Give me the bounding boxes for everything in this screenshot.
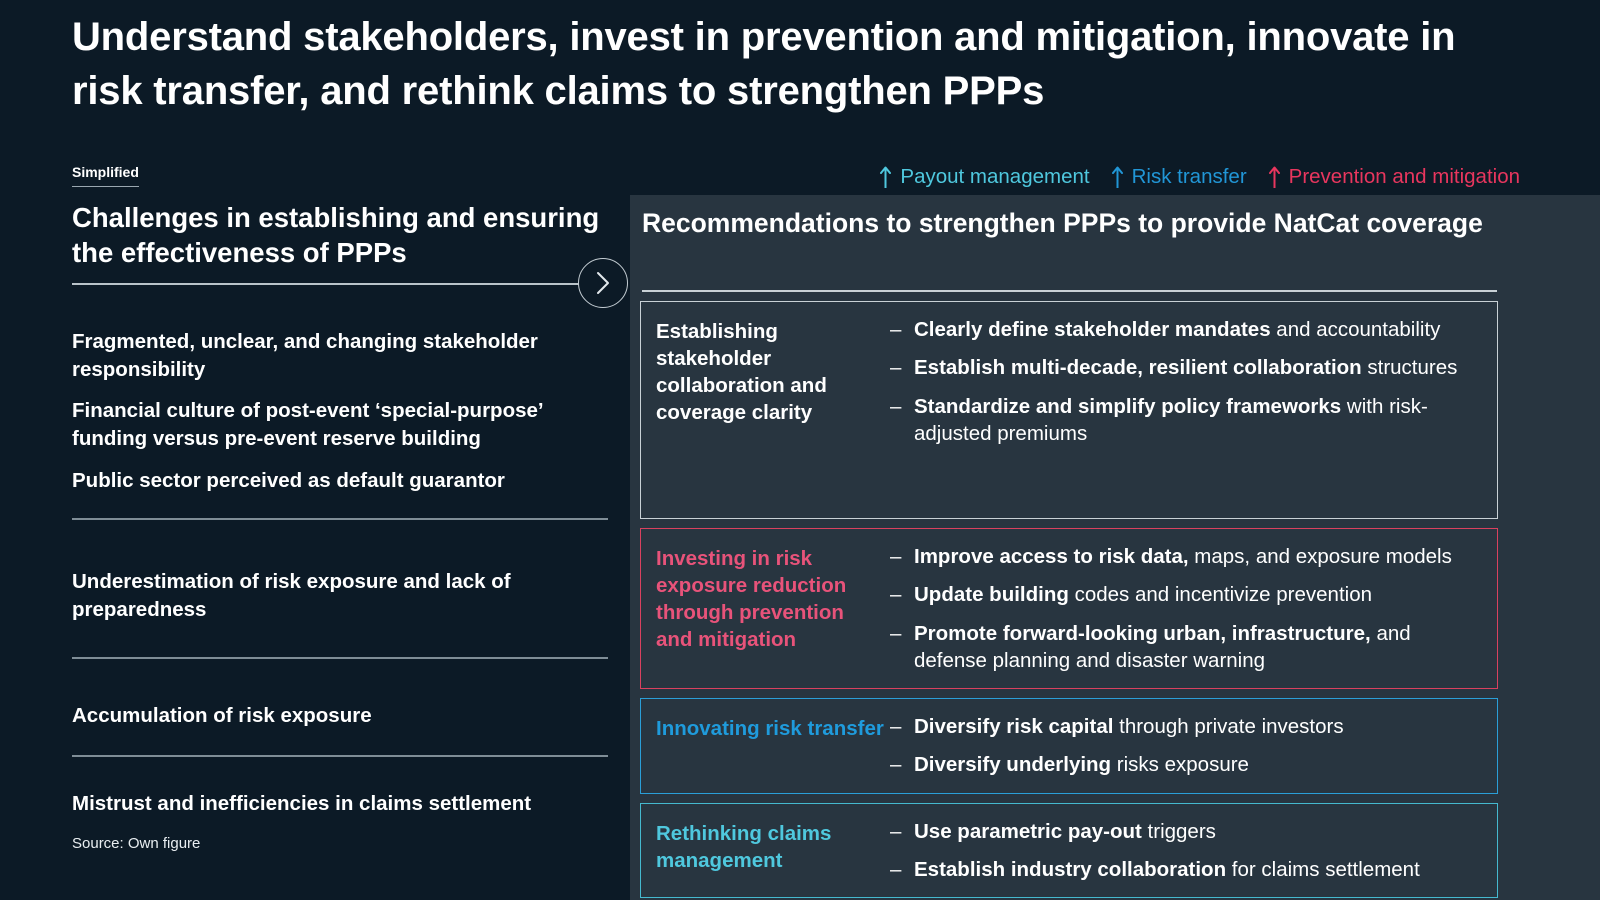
right-heading-rule [642,290,1497,292]
chevron-right-icon[interactable] [578,258,628,308]
legend-item-label: Prevention and mitigation [1289,167,1520,188]
up-arrow-icon [1112,166,1123,188]
recommendation-card: Investing in risk exposure reduction thr… [640,528,1498,689]
recommendation-item-lead: Establish industry collaboration [914,858,1226,881]
recommendation-card: Innovating risk transfer–Diversify risk … [640,698,1498,794]
dash-bullet-icon: – [890,751,914,778]
page-title: Understand stakeholders, invest in preve… [72,10,1532,119]
recommendation-item-lead: Use parametric pay-out [914,820,1142,843]
recommendation-card: Rethinking claims management–Use paramet… [640,803,1498,899]
dash-bullet-icon: – [890,818,914,845]
challenge-item: Mistrust and inefficiencies in claims se… [72,790,632,818]
recommendation-item-lead: Establish multi-decade, resilient collab… [914,356,1362,379]
recommendation-item-text: Use parametric pay-out triggers [914,818,1483,845]
recommendation-item: –Update building codes and incentivize p… [890,581,1483,608]
dash-bullet-icon: – [890,354,914,381]
recommendation-card: Establishing stakeholder collaboration a… [640,301,1498,519]
left-divider-2 [72,657,608,659]
recommendation-item-text: Promote forward-looking urban, infrastru… [914,620,1483,675]
recommendation-item-text: Diversify underlying risks exposure [914,751,1483,778]
recommendation-item-rest: codes and incentivize prevention [1069,583,1372,606]
recommendation-card-title: Rethinking claims management [656,818,886,884]
challenge-group-3: Accumulation of risk exposure [72,702,612,730]
recommendation-item-text: Update building codes and incentivize pr… [914,581,1483,608]
recommendation-card-items: –Improve access to risk data, maps, and … [886,543,1483,674]
recommendation-item: –Clearly define stakeholder mandates and… [890,316,1483,343]
recommendation-item-text: Establish industry collaboration for cla… [914,856,1483,883]
recommendation-card-title: Establishing stakeholder collaboration a… [656,316,886,504]
recommendation-item-rest: maps, and exposure models [1189,545,1452,568]
recommendation-item-text: Improve access to risk data, maps, and e… [914,543,1483,570]
recommendation-item-lead: Diversify risk capital [914,715,1113,738]
challenge-group-2: Underestimation of risk exposure and lac… [72,568,612,623]
recommendation-item-rest: triggers [1142,820,1216,843]
left-column-heading-wrap: Challenges in establishing and ensuring … [72,200,612,270]
recommendation-item-text: Standardize and simplify policy framewor… [914,393,1483,448]
dash-bullet-icon: – [890,581,914,608]
recommendation-item-lead: Standardize and simplify policy framewor… [914,395,1341,418]
recommendation-item: –Establish multi-decade, resilient colla… [890,354,1483,381]
dash-bullet-icon: – [890,713,914,740]
dash-bullet-icon: – [890,856,914,883]
dash-bullet-icon: – [890,393,914,448]
recommendation-item: –Diversify underlying risks exposure [890,751,1483,778]
recommendation-item: –Standardize and simplify policy framewo… [890,393,1483,448]
recommendation-item: –Use parametric pay-out triggers [890,818,1483,845]
legend-item-2: Prevention and mitigation [1269,166,1520,188]
challenge-item: Accumulation of risk exposure [72,702,612,730]
left-divider-1 [72,518,608,520]
recommendation-item-lead: Improve access to risk data, [914,545,1189,568]
recommendation-item-rest: risks exposure [1111,753,1249,776]
legend-item-1: Risk transfer [1112,166,1247,188]
recommendation-card-title: Investing in risk exposure reduction thr… [656,543,886,674]
recommendation-item: –Establish industry collaboration for cl… [890,856,1483,883]
recommendation-item-rest: through private investors [1113,715,1343,738]
challenge-group-4: Mistrust and inefficiencies in claims se… [72,790,632,818]
recommendation-cards: Establishing stakeholder collaboration a… [640,301,1498,898]
challenge-group-1: Fragmented, unclear, and changing stakeh… [72,328,612,494]
simplified-tag: Simplified [72,164,139,187]
recommendation-card-items: –Clearly define stakeholder mandates and… [886,316,1483,504]
recommendation-card-items: –Use parametric pay-out triggers–Establi… [886,818,1483,884]
right-column-heading: Recommendations to strengthen PPPs to pr… [642,206,1502,241]
left-column-heading: Challenges in establishing and ensuring … [72,200,612,270]
recommendation-item-lead: Clearly define stakeholder mandates [914,318,1271,341]
challenge-item: Public sector perceived as default guara… [72,467,612,495]
legend-item-label: Risk transfer [1132,167,1247,188]
recommendation-item-lead: Promote forward-looking urban, infrastru… [914,622,1371,645]
recommendation-item: –Improve access to risk data, maps, and … [890,543,1483,570]
recommendation-item-rest: structures [1362,356,1458,379]
challenge-item: Underestimation of risk exposure and lac… [72,568,612,623]
recommendation-item-text: Clearly define stakeholder mandates and … [914,316,1483,343]
legend-item-label: Payout management [900,167,1089,188]
challenge-item: Fragmented, unclear, and changing stakeh… [72,328,612,383]
dash-bullet-icon: – [890,543,914,570]
left-heading-rule [72,283,608,285]
source-note: Source: Own figure [72,835,200,852]
legend-item-0: Payout management [880,166,1089,188]
dash-bullet-icon: – [890,316,914,343]
up-arrow-icon [880,166,891,188]
challenge-item: Financial culture of post-event ‘special… [72,397,612,452]
recommendation-item-text: Diversify risk capital through private i… [914,713,1483,740]
recommendation-item-rest: for claims settlement [1226,858,1420,881]
recommendation-item-lead: Diversify underlying [914,753,1111,776]
recommendation-item: –Promote forward-looking urban, infrastr… [890,620,1483,675]
legend: Payout managementRisk transferPrevention… [860,160,1520,194]
left-divider-3 [72,755,608,757]
recommendation-item-rest: and accountability [1271,318,1441,341]
recommendation-item-lead: Update building [914,583,1069,606]
dash-bullet-icon: – [890,620,914,675]
up-arrow-icon [1269,166,1280,188]
recommendation-card-title: Innovating risk transfer [656,713,886,779]
recommendation-item: –Diversify risk capital through private … [890,713,1483,740]
recommendation-item-text: Establish multi-decade, resilient collab… [914,354,1483,381]
recommendation-card-items: –Diversify risk capital through private … [886,713,1483,779]
